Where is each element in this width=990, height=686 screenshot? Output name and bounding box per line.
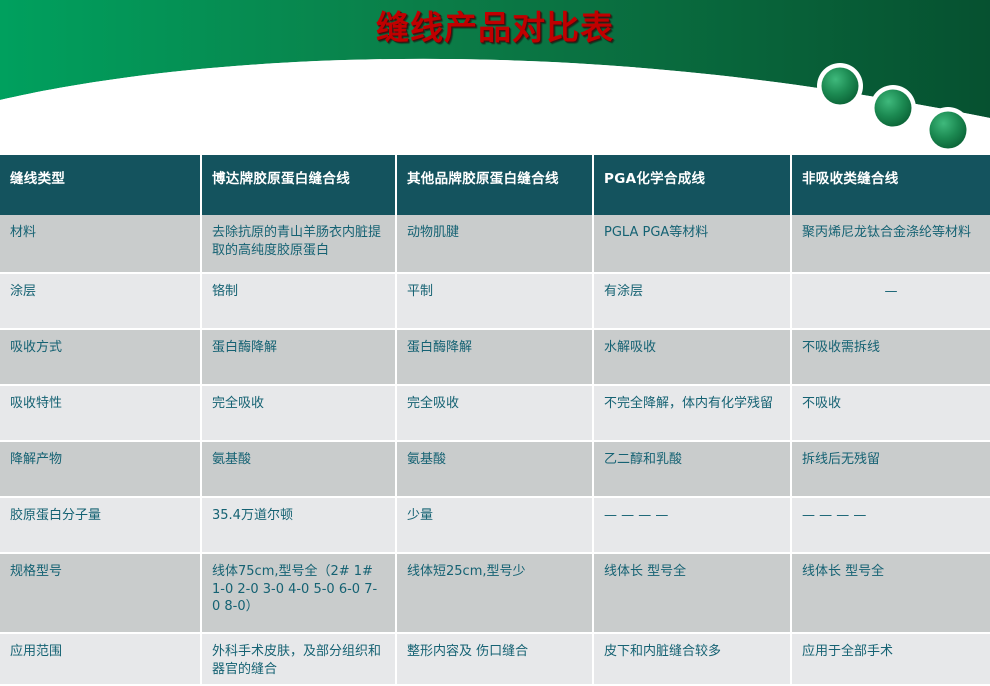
cell-spec-boda: 线体75cm,型号全（2# 1# 1-0 2-0 3-0 4-0 5-0 6-0… <box>201 553 396 633</box>
cell-absorption-other: 蛋白酶降解 <box>396 329 593 385</box>
cell-absfeature-other: 完全吸收 <box>396 385 593 441</box>
cell-application-boda: 外科手术皮肤，及部分组织和器官的缝合 <box>201 633 396 685</box>
suture-comparison-table: 缝线类型 博达牌胶原蛋白缝合线 其他品牌胶原蛋白缝合线 PGA化学合成线 非吸收… <box>0 155 990 686</box>
cell-spec-nonabsorb: 线体长 型号全 <box>791 553 990 633</box>
cell-material-boda: 去除抗原的青山羊肠衣内脏提取的高纯度胶原蛋白 <box>201 215 396 273</box>
cell-material-pga: PGLA PGA等材料 <box>593 215 791 273</box>
cell-absfeature-boda: 完全吸收 <box>201 385 396 441</box>
column-header-pga-synthetic: PGA化学合成线 <box>593 155 791 215</box>
row-label-application-scope: 应用范围 <box>0 633 201 685</box>
table-row: 材料 去除抗原的青山羊肠衣内脏提取的高纯度胶原蛋白 动物肌腱 PGLA PGA等… <box>0 215 990 273</box>
cell-absorption-nonabsorb: 不吸收需拆线 <box>791 329 990 385</box>
row-label-absorption-feature: 吸收特性 <box>0 385 201 441</box>
decorative-circle-1 <box>817 63 863 109</box>
table-row: 胶原蛋白分子量 35.4万道尔顿 少量 — — — — — — — — <box>0 497 990 553</box>
cell-molweight-pga: — — — — <box>593 497 791 553</box>
cell-material-nonabsorb: 聚丙烯尼龙钛合金涤纶等材料 <box>791 215 990 273</box>
row-label-coating: 涂层 <box>0 273 201 329</box>
row-label-absorption-method: 吸收方式 <box>0 329 201 385</box>
column-header-boda-collagen: 博达牌胶原蛋白缝合线 <box>201 155 396 215</box>
cell-spec-other: 线体短25cm,型号少 <box>396 553 593 633</box>
cell-coating-boda: 铬制 <box>201 273 396 329</box>
table-row: 吸收方式 蛋白酶降解 蛋白酶降解 水解吸收 不吸收需拆线 <box>0 329 990 385</box>
table-row: 吸收特性 完全吸收 完全吸收 不完全降解，体内有化学残留 不吸收 <box>0 385 990 441</box>
cell-application-nonabsorb: 应用于全部手术 <box>791 633 990 685</box>
cell-absorption-pga: 水解吸收 <box>593 329 791 385</box>
cell-molweight-boda: 35.4万道尔顿 <box>201 497 396 553</box>
row-label-degradation-product: 降解产物 <box>0 441 201 497</box>
cell-application-pga: 皮下和内脏缝合较多 <box>593 633 791 685</box>
table-row: 规格型号 线体75cm,型号全（2# 1# 1-0 2-0 3-0 4-0 5-… <box>0 553 990 633</box>
cell-degradation-other: 氨基酸 <box>396 441 593 497</box>
decorative-circle-2 <box>870 85 916 131</box>
cell-molweight-nonabsorb: — — — — <box>791 497 990 553</box>
table-row: 涂层 铬制 平制 有涂层 — <box>0 273 990 329</box>
banner-graphic <box>0 0 990 152</box>
decorative-circle-3 <box>925 107 971 152</box>
cell-degradation-boda: 氨基酸 <box>201 441 396 497</box>
cell-degradation-nonabsorb: 拆线后无残留 <box>791 441 990 497</box>
row-label-specification: 规格型号 <box>0 553 201 633</box>
page-banner: 缝线产品对比表 <box>0 0 990 152</box>
table-row: 降解产物 氨基酸 氨基酸 乙二醇和乳酸 拆线后无残留 <box>0 441 990 497</box>
column-header-nonabsorbable: 非吸收类缝合线 <box>791 155 990 215</box>
cell-spec-pga: 线体长 型号全 <box>593 553 791 633</box>
cell-absfeature-pga: 不完全降解，体内有化学残留 <box>593 385 791 441</box>
cell-coating-pga: 有涂层 <box>593 273 791 329</box>
cell-coating-other: 平制 <box>396 273 593 329</box>
column-header-other-collagen: 其他品牌胶原蛋白缝合线 <box>396 155 593 215</box>
column-header-suture-type: 缝线类型 <box>0 155 201 215</box>
cell-material-other: 动物肌腱 <box>396 215 593 273</box>
cell-molweight-other: 少量 <box>396 497 593 553</box>
row-label-material: 材料 <box>0 215 201 273</box>
cell-application-other: 整形内容及 伤口缝合 <box>396 633 593 685</box>
row-label-molecular-weight: 胶原蛋白分子量 <box>0 497 201 553</box>
cell-degradation-pga: 乙二醇和乳酸 <box>593 441 791 497</box>
comparison-table-wrapper: 缝线类型 博达牌胶原蛋白缝合线 其他品牌胶原蛋白缝合线 PGA化学合成线 非吸收… <box>0 155 990 686</box>
cell-absorption-boda: 蛋白酶降解 <box>201 329 396 385</box>
cell-coating-nonabsorb: — <box>791 273 990 329</box>
cell-absfeature-nonabsorb: 不吸收 <box>791 385 990 441</box>
table-row: 应用范围 外科手术皮肤，及部分组织和器官的缝合 整形内容及 伤口缝合 皮下和内脏… <box>0 633 990 685</box>
table-header-row: 缝线类型 博达牌胶原蛋白缝合线 其他品牌胶原蛋白缝合线 PGA化学合成线 非吸收… <box>0 155 990 215</box>
